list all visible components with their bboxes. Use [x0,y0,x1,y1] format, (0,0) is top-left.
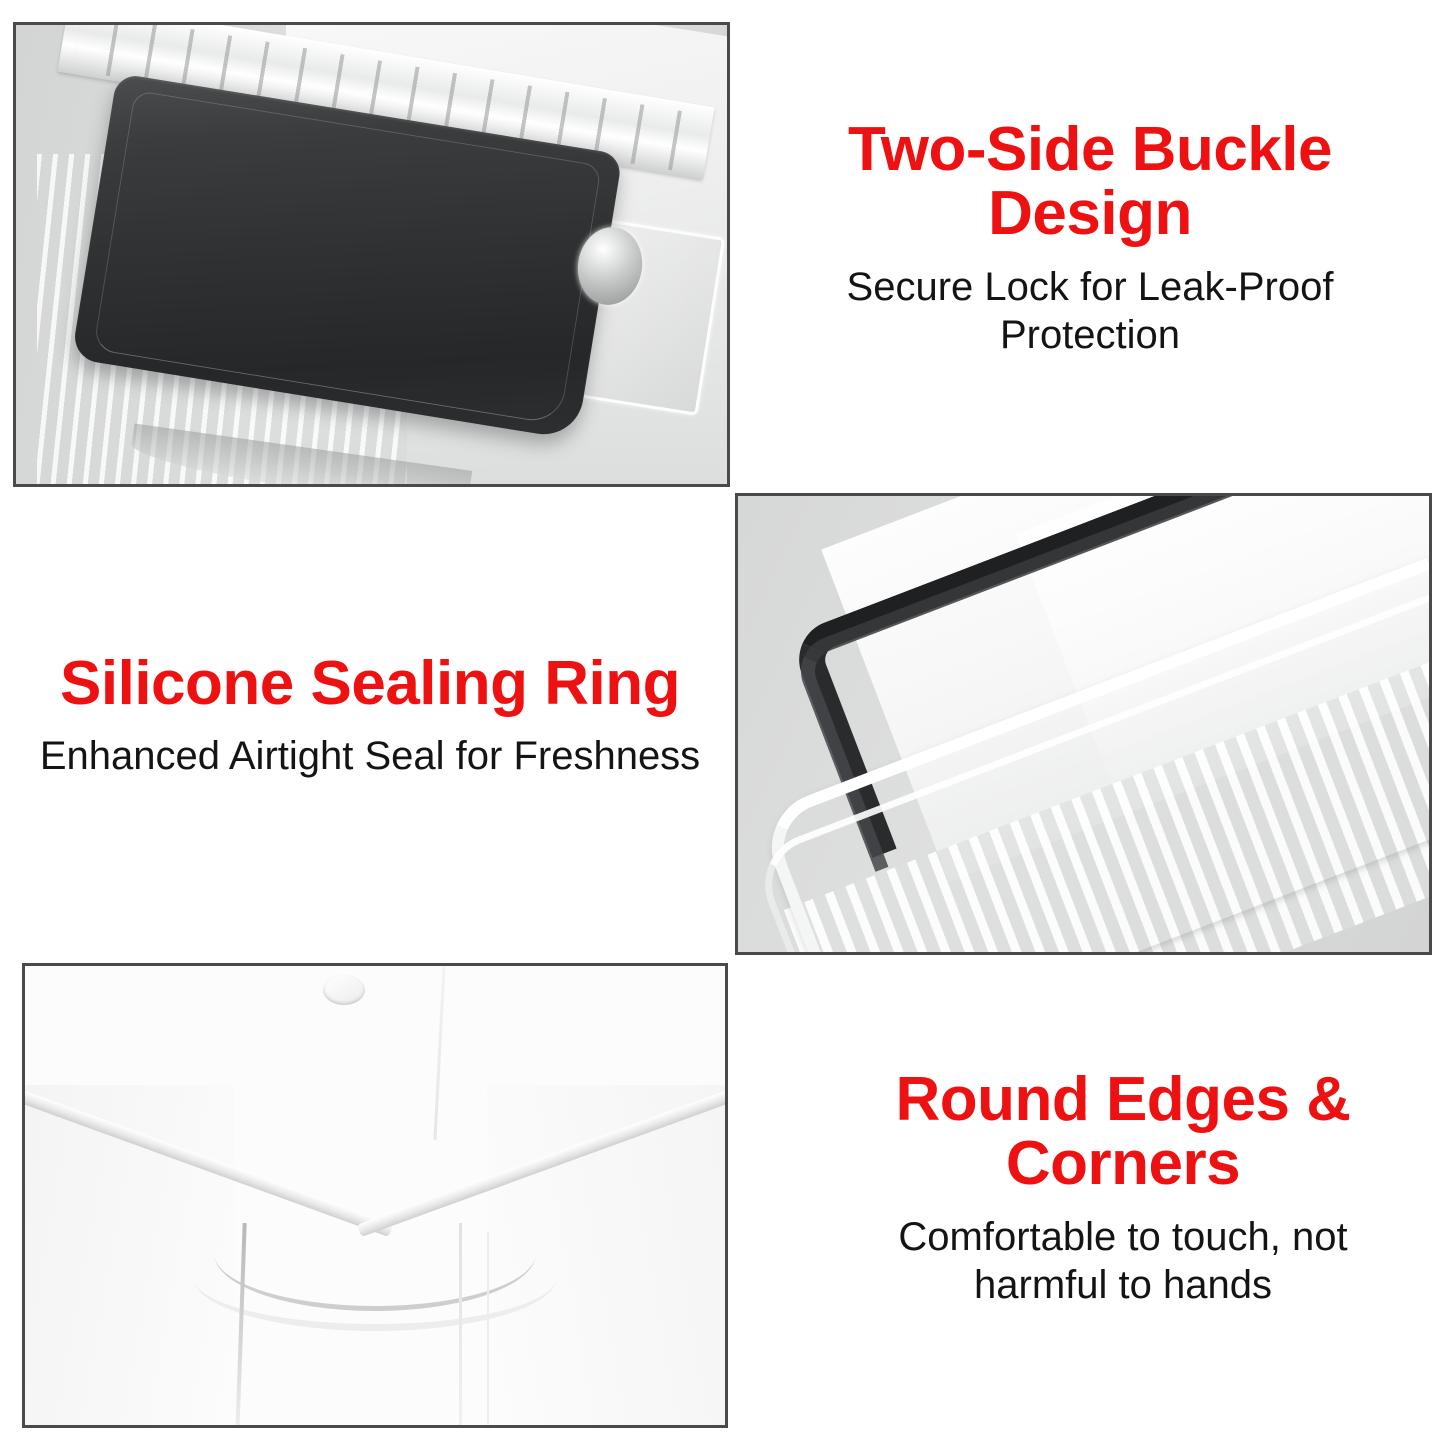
feature-subline-two-side-buckle: Secure Lock for Leak-Proof Protection [760,263,1420,359]
feature-text-silicone-sealing-ring: Silicone Sealing Ring Enhanced Airtight … [8,652,732,780]
feature-headline-round-edges-corners: Round Edges & Corners [830,1068,1416,1197]
feature-image-silicone-sealing-ring [735,493,1432,955]
feature-text-round-edges-corners: Round Edges & Corners Comfortable to tou… [830,1068,1416,1309]
feature-image-two-side-buckle [13,22,730,487]
feature-headline-silicone-sealing-ring: Silicone Sealing Ring [8,652,732,716]
corner-groove-inner [193,1223,557,1331]
corner-inner-line [433,966,445,1140]
feature-image-round-edges-corners [22,963,728,1428]
feature-subline-silicone-sealing-ring: Enhanced Airtight Seal for Freshness [8,732,732,780]
sealing-ring-photo-scene [738,496,1429,952]
feature-text-two-side-buckle: Two-Side Buckle Design Secure Lock for L… [760,118,1420,359]
buckle-photo-scene [16,25,727,484]
corner-vertical-edge-tertiary [487,1232,489,1425]
rounded-corner-photo-scene [25,966,725,1425]
corner-vertical-edge-secondary [459,1223,462,1428]
feature-subline-round-edges-corners: Comfortable to touch, not harmful to han… [830,1213,1416,1309]
product-feature-infographic: Two-Side Buckle Design Secure Lock for L… [0,0,1445,1445]
feature-headline-two-side-buckle: Two-Side Buckle Design [760,118,1420,247]
corner-dimple [323,975,365,1005]
